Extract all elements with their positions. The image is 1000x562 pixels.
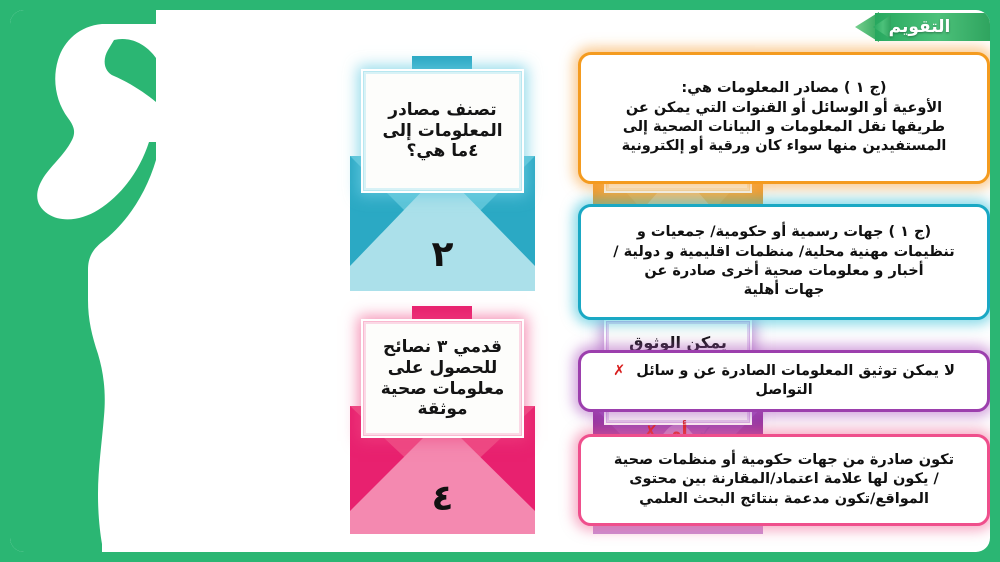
answer-1-line-2: الأوعية أو الوسائل أو القنوات التي يمكن … bbox=[593, 99, 975, 118]
person-drinking-water-silhouette bbox=[10, 10, 156, 552]
slide-root: التقويم عرفي مصادر المعلومات الصحية؟ ١ bbox=[0, 0, 1000, 562]
answer-1-text: (ج ١ ) مصادر المعلومات هي: الأوعية أو ال… bbox=[593, 79, 975, 156]
answer-box-3: لا يمكن توثيق المعلومات الصادرة عن و سائ… bbox=[578, 350, 990, 412]
answer-4-line-2: / يكون لها علامة اعتماد/المقارنة بين محت… bbox=[593, 470, 975, 489]
answer-3-line-2: التواصل bbox=[593, 381, 975, 400]
answer-4-line-1: تكون صادرة من جهات حكومية أو منظمات صحية bbox=[593, 451, 975, 470]
slide-page: التقويم عرفي مصادر المعلومات الصحية؟ ١ bbox=[10, 10, 990, 552]
answer-3-line-1: لا يمكن توثيق المعلومات الصادرة عن و سائ… bbox=[636, 363, 955, 379]
answer-4-text: تكون صادرة من جهات حكومية أو منظمات صحية… bbox=[593, 451, 975, 509]
answer-2-line-4: جهات أهلية bbox=[593, 281, 975, 300]
banner-label: التقويم bbox=[855, 10, 990, 44]
envelope-2-question: تصنف مصادر المعلومات إلى ٤ما هي؟ bbox=[374, 100, 511, 162]
answer-box-1: (ج ١ ) مصادر المعلومات هي: الأوعية أو ال… bbox=[578, 52, 990, 184]
cross-icon: ✗ bbox=[613, 363, 625, 379]
envelope-2-number: ٢ bbox=[350, 234, 535, 275]
answer-2-line-2: تنظيمات مهنية محلية/ منظمات اقليمية و دو… bbox=[593, 243, 975, 262]
answer-box-2: (ج ١ ) جهات رسمية أو حكومية/ جمعيات و تن… bbox=[578, 204, 990, 320]
answer-4-line-3: المواقع/تكون مدعمة بنتائج البحث العلمي bbox=[593, 490, 975, 509]
answer-1-line-1: (ج ١ ) مصادر المعلومات هي: bbox=[593, 79, 975, 98]
envelope-4-number: ٤ bbox=[350, 478, 535, 519]
answer-2-text: (ج ١ ) جهات رسمية أو حكومية/ جمعيات و تن… bbox=[593, 223, 975, 300]
answers-column: (ج ١ ) مصادر المعلومات هي: الأوعية أو ال… bbox=[578, 10, 990, 552]
answer-1-line-3: طريقها نقل المعلومات و البيانات الصحية إ… bbox=[593, 118, 975, 137]
envelope-card-2[interactable]: تصنف مصادر المعلومات إلى ٤ما هي؟ ٢ bbox=[350, 56, 535, 291]
answer-2-line-1: (ج ١ ) جهات رسمية أو حكومية/ جمعيات و bbox=[593, 223, 975, 242]
envelope-card-4[interactable]: قدمي ٣ نصائح للحصول على معلومات صحية موث… bbox=[350, 306, 535, 534]
banner-assessment: التقويم bbox=[855, 10, 990, 44]
answer-2-line-3: أخبار و معلومات صحية أخرى صادرة عن bbox=[593, 262, 975, 281]
envelope-4-question: قدمي ٣ نصائح للحصول على معلومات صحية موث… bbox=[374, 337, 511, 420]
envelope-4-note: قدمي ٣ نصائح للحصول على معلومات صحية موث… bbox=[364, 322, 521, 435]
envelope-2-note: تصنف مصادر المعلومات إلى ٤ما هي؟ bbox=[364, 72, 521, 190]
answer-1-line-4: المستفيدين منها سواء كان ورقية أو إلكترو… bbox=[593, 137, 975, 156]
answer-3-line-1-row: لا يمكن توثيق المعلومات الصادرة عن و سائ… bbox=[593, 362, 975, 381]
answer-3-text: لا يمكن توثيق المعلومات الصادرة عن و سائ… bbox=[593, 362, 975, 401]
answer-box-4: تكون صادرة من جهات حكومية أو منظمات صحية… bbox=[578, 434, 990, 526]
